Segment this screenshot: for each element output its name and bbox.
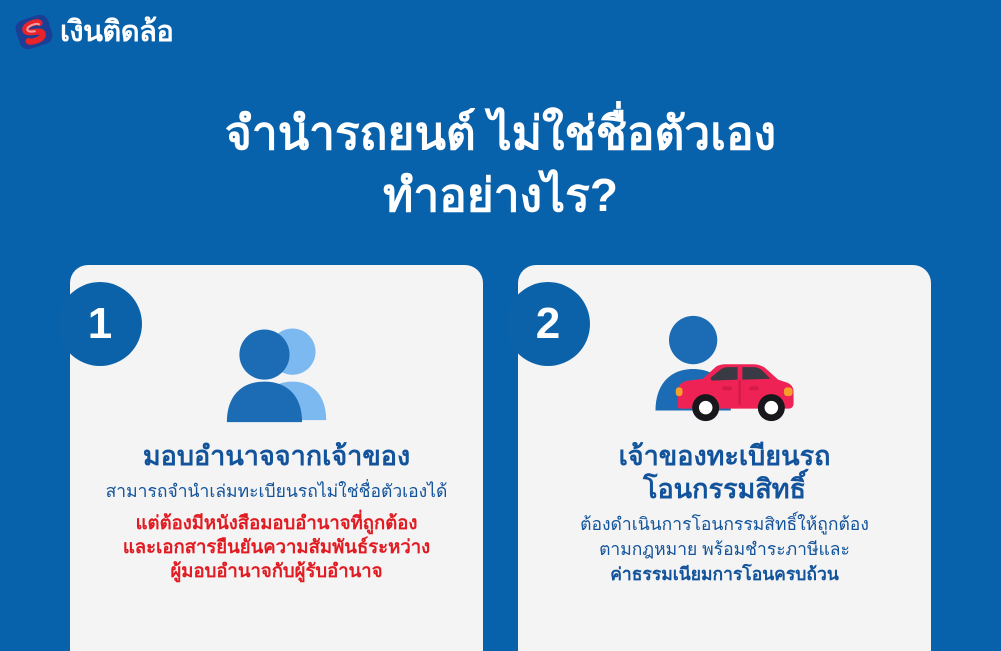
page-title-line-2: ทำอย่างไร? [0, 164, 1001, 226]
step-cards: 1 มอบอำนาจจากเจ้าของ สามารถจำนำเล่มทะเบี… [70, 265, 932, 651]
person-with-car-icon [652, 314, 798, 426]
page-title-line-1: จำนำรถยนต์ ไม่ใช่ชื่อตัวเอง [0, 102, 1001, 164]
step-card-2: 2 [518, 265, 931, 651]
ngerntidlor-swoosh-logo-icon [14, 14, 54, 50]
step-card-2-body: เจ้าของทะเบียนรถ โอนกรรมสิทธิ์ ต้องดำเนิ… [518, 440, 931, 587]
step-card-1-subtitle: สามารถจำนำเล่มทะเบียนรถไม่ใช่ชื่อตัวเองไ… [92, 479, 461, 503]
brand-logo[interactable]: เงินติดล้อ [14, 11, 173, 53]
step-card-1-note-line-1: แต่ต้องมีหนังสือมอบอำนาจที่ถูกต้อง [92, 511, 461, 535]
step-card-1-note: แต่ต้องมีหนังสือมอบอำนาจที่ถูกต้อง และเอ… [92, 511, 461, 583]
step-card-2-body-line-1: ต้องดำเนินการโอนกรรมสิทธิ์ให้ถูกต้อง [540, 512, 909, 537]
step-card-1-body: มอบอำนาจจากเจ้าของ สามารถจำนำเล่มทะเบียน… [70, 440, 483, 583]
step-card-2-title-line-2: โอนกรรมสิทธิ์ [540, 473, 909, 506]
step-number-badge-2: 2 [506, 282, 590, 366]
step-card-1: 1 มอบอำนาจจากเจ้าของ สามารถจำนำเล่มทะเบี… [70, 265, 483, 651]
step-card-1-title: มอบอำนาจจากเจ้าของ [92, 440, 461, 473]
step-card-2-body-text: ต้องดำเนินการโอนกรรมสิทธิ์ให้ถูกต้อง ตาม… [540, 512, 909, 587]
step-card-1-note-line-2: และเอกสารยืนยันความสัมพันธ์ระหว่าง [92, 535, 461, 559]
step-card-2-body-line-3: ค่าธรรมเนียมการโอนครบถ้วน [540, 562, 909, 587]
page-title: จำนำรถยนต์ ไม่ใช่ชื่อตัวเอง ทำอย่างไร? [0, 102, 1001, 226]
step-card-1-note-line-3: ผู้มอบอำนาจกับผู้รับอำนาจ [92, 559, 461, 583]
step-number-badge-1: 1 [58, 282, 142, 366]
two-people-icon [214, 316, 340, 424]
brand-name: เงินติดล้อ [60, 18, 173, 47]
step-card-2-body-line-2: ตามกฎหมาย พร้อมชำระภาษีและ [540, 537, 909, 562]
step-card-2-title-line-1: เจ้าของทะเบียนรถ [540, 440, 909, 473]
step-card-2-title: เจ้าของทะเบียนรถ โอนกรรมสิทธิ์ [540, 440, 909, 506]
